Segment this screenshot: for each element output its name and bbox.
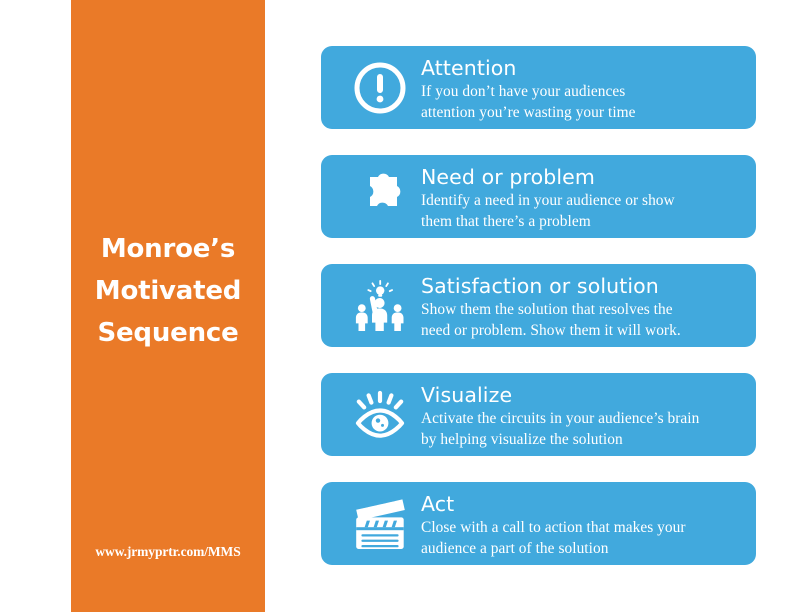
step-card-text: Visualize Activate the circuits in your … xyxy=(421,383,746,451)
step-title: Satisfaction or solution xyxy=(421,274,746,298)
step-description-line-2: them that there’s a problem xyxy=(421,212,746,233)
step-description-line-1: Close with a call to action that makes y… xyxy=(421,518,746,539)
step-title: Act xyxy=(421,492,746,516)
clapperboard-icon xyxy=(339,482,421,565)
step-card-visualize[interactable]: Visualize Activate the circuits in your … xyxy=(321,373,756,456)
step-description-line-2: need or problem. Show them it will work. xyxy=(421,321,746,342)
page-title: Monroe’s Motivated Sequence xyxy=(71,228,265,354)
puzzle-piece-icon xyxy=(339,155,421,238)
step-description: Show them the solution that resolves the… xyxy=(421,300,746,342)
step-description: Activate the circuits in your audience’s… xyxy=(421,409,746,451)
website-url[interactable]: www.jrmyprtr.com/MMS xyxy=(71,544,265,560)
step-card-text: Need or problem Identify a need in your … xyxy=(421,165,746,233)
step-card-attention[interactable]: Attention If you don’t have your audienc… xyxy=(321,46,756,129)
exclamation-circle-icon xyxy=(339,46,421,129)
steps-list: Attention If you don’t have your audienc… xyxy=(321,46,756,591)
page-title-line-3: Sequence xyxy=(71,312,265,354)
step-card-text: Satisfaction or solution Show them the s… xyxy=(421,274,746,342)
brand-panel: Monroe’s Motivated Sequence www.jrmyprtr… xyxy=(71,0,265,612)
people-idea-icon xyxy=(339,264,421,347)
step-card-satisfaction-or-solution[interactable]: Satisfaction or solution Show them the s… xyxy=(321,264,756,347)
step-description: Close with a call to action that makes y… xyxy=(421,518,746,560)
step-title: Visualize xyxy=(421,383,746,407)
step-description-line-1: Activate the circuits in your audience’s… xyxy=(421,409,746,430)
step-description-line-2: audience a part of the solution xyxy=(421,539,746,560)
eye-icon xyxy=(339,373,421,456)
step-description: Identify a need in your audience or show… xyxy=(421,191,746,233)
page-title-line-2: Motivated xyxy=(71,270,265,312)
step-card-text: Act Close with a call to action that mak… xyxy=(421,492,746,560)
step-title: Attention xyxy=(421,56,746,80)
step-description-line-2: by helping visualize the solution xyxy=(421,430,746,451)
page-title-line-1: Monroe’s xyxy=(71,228,265,270)
step-description-line-1: Identify a need in your audience or show xyxy=(421,191,746,212)
step-description-line-2: attention you’re wasting your time xyxy=(421,103,746,124)
step-description-line-1: Show them the solution that resolves the xyxy=(421,300,746,321)
step-card-need-or-problem[interactable]: Need or problem Identify a need in your … xyxy=(321,155,756,238)
step-description-line-1: If you don’t have your audiences xyxy=(421,82,746,103)
step-title: Need or problem xyxy=(421,165,746,189)
step-card-act[interactable]: Act Close with a call to action that mak… xyxy=(321,482,756,565)
step-description: If you don’t have your audiences attenti… xyxy=(421,82,746,124)
step-card-text: Attention If you don’t have your audienc… xyxy=(421,56,746,124)
